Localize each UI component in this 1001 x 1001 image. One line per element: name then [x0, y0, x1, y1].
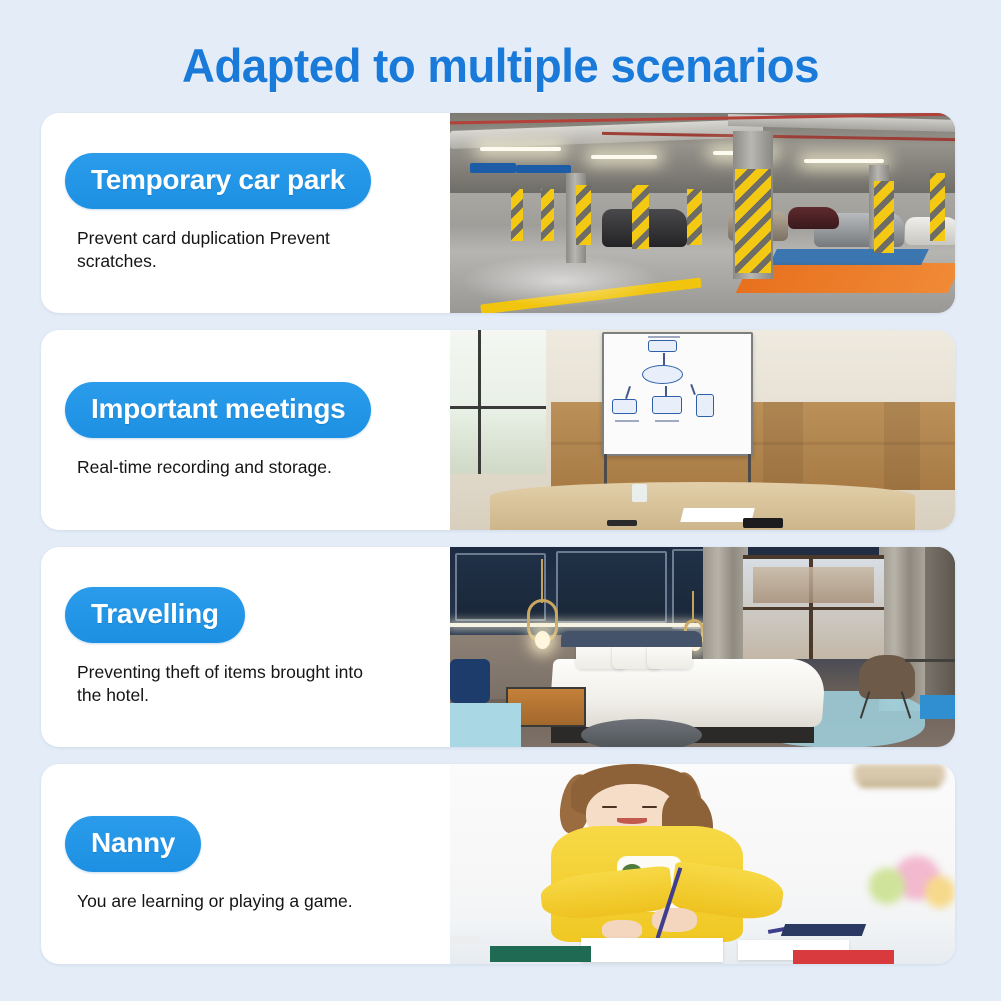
garage-chevron-guard-icon: [735, 169, 770, 273]
child-studying-photo: [450, 764, 955, 964]
meeting-table-icon: [490, 482, 914, 530]
scenario-card-temporary-car-park[interactable]: Temporary car park Prevent card duplicat…: [41, 113, 955, 313]
meeting-phone-icon: [743, 518, 783, 528]
hotel-bed-icon: [549, 659, 826, 727]
green-book-icon: [490, 946, 591, 962]
hotel-window-frame-icon: [743, 607, 884, 610]
navy-book-icon: [781, 924, 866, 936]
hotel-room-photo: [450, 547, 955, 747]
card-text-block: Temporary car park Prevent card duplicat…: [41, 113, 450, 313]
badge-important-meetings[interactable]: Important meetings: [65, 382, 371, 438]
whiteboard-text-icon: [648, 336, 680, 338]
whiteboard-diagram-node: [652, 396, 682, 414]
garage-floor-reflection-icon: [460, 255, 662, 307]
garage-chevron-guard-icon: [541, 189, 554, 241]
meeting-wall-panel-icon: [763, 402, 803, 490]
hotel-blue-seat-icon: [920, 695, 955, 719]
garage-chevron-guard-icon: [632, 185, 650, 249]
card-text-block: Important meetings Real-time recording a…: [41, 330, 450, 530]
garage-light-icon: [480, 147, 561, 151]
hotel-window-view-icon: [753, 567, 874, 603]
card-description: Prevent card duplication Prevent scratch…: [65, 227, 385, 273]
whiteboard-text-icon: [615, 420, 639, 422]
scenario-card-important-meetings[interactable]: Important meetings Real-time recording a…: [41, 330, 955, 530]
garage-chevron-guard-icon: [687, 189, 702, 245]
meeting-wall-panel-icon: [884, 402, 919, 490]
card-text-block: Travelling Preventing theft of items bro…: [41, 547, 450, 747]
garage-chevron-guard-icon: [511, 189, 524, 241]
parking-garage-photo: [450, 113, 955, 313]
flower-icon: [869, 868, 904, 904]
whiteboard-connector-icon: [690, 384, 696, 395]
whiteboard-connector-icon: [665, 386, 667, 397]
card-description: Preventing theft of items brought into t…: [65, 661, 385, 707]
whiteboard-text-icon: [655, 420, 679, 422]
smile-icon: [617, 818, 647, 824]
hotel-cushion-icon: [450, 659, 490, 703]
pendant-lamp-bulb-icon: [535, 631, 550, 649]
meeting-room-photo: [450, 330, 955, 530]
card-text-block: Nanny You are learning or playing a game…: [41, 764, 450, 964]
red-book-icon: [793, 950, 894, 964]
whiteboard-diagram-cloud: [642, 365, 683, 384]
garage-sign-icon: [516, 165, 572, 173]
card-description: Real-time recording and storage.: [65, 456, 332, 479]
page-title: Adapted to multiple scenarios: [15, 0, 986, 89]
hotel-wall-panel-icon: [556, 551, 667, 623]
whiteboard-diagram-node: [696, 394, 714, 417]
scenario-card-travelling[interactable]: Travelling Preventing theft of items bro…: [41, 547, 955, 747]
garage-chevron-guard-icon: [874, 181, 894, 253]
whiteboard-connector-icon: [625, 386, 631, 399]
garage-blue-stripe-icon: [769, 249, 928, 265]
garage-scene: [450, 113, 955, 313]
meeting-scene: [450, 330, 955, 530]
garage-sign-icon: [470, 163, 515, 173]
meeting-glass-icon: [632, 484, 647, 502]
eye-icon: [642, 806, 657, 808]
pendant-lamp-cord-icon: [541, 559, 543, 603]
garage-car-icon: [788, 207, 839, 229]
meeting-phone-icon: [607, 520, 637, 526]
hotel-headboard-icon: [561, 631, 702, 647]
whiteboard-diagram-node: [648, 340, 678, 352]
scenario-card-nanny[interactable]: Nanny You are learning or playing a game…: [41, 764, 955, 964]
hotel-scene: [450, 547, 955, 747]
notebook-icon: [581, 938, 722, 962]
scenario-page: Adapted to multiple scenarios Temporary …: [0, 0, 1001, 1001]
hand-icon: [602, 920, 642, 940]
garage-light-icon: [591, 155, 657, 159]
desk-object-icon: [450, 936, 480, 944]
card-description: You are learning or playing a game.: [65, 890, 353, 913]
hotel-coffee-table-icon: [581, 719, 702, 747]
child-studying-scene: [450, 764, 955, 964]
meeting-window-mullion-icon: [478, 330, 481, 474]
hotel-curtain-icon: [925, 547, 955, 711]
scenario-card-list: Temporary car park Prevent card duplicat…: [41, 113, 955, 981]
whiteboard-icon: [602, 332, 754, 456]
meeting-window-icon: [450, 330, 546, 474]
hotel-bench-icon: [450, 703, 521, 747]
garage-chevron-guard-icon: [930, 173, 945, 241]
whiteboard-diagram-node: [612, 399, 637, 415]
background-shelf-icon: [859, 780, 940, 788]
whiteboard-connector-icon: [663, 353, 665, 365]
garage-chevron-guard-icon: [576, 185, 591, 245]
hotel-window-frame-icon: [743, 555, 884, 559]
garage-light-icon: [804, 159, 885, 163]
hotel-light-strip-icon: [450, 623, 713, 627]
hotel-desk-icon: [905, 659, 956, 662]
badge-nanny[interactable]: Nanny: [65, 816, 201, 872]
badge-temporary-car-park[interactable]: Temporary car park: [65, 153, 371, 209]
eye-icon: [602, 806, 617, 808]
flower-icon: [925, 876, 955, 908]
badge-travelling[interactable]: Travelling: [65, 587, 245, 643]
meeting-window-mullion-icon: [450, 406, 546, 409]
